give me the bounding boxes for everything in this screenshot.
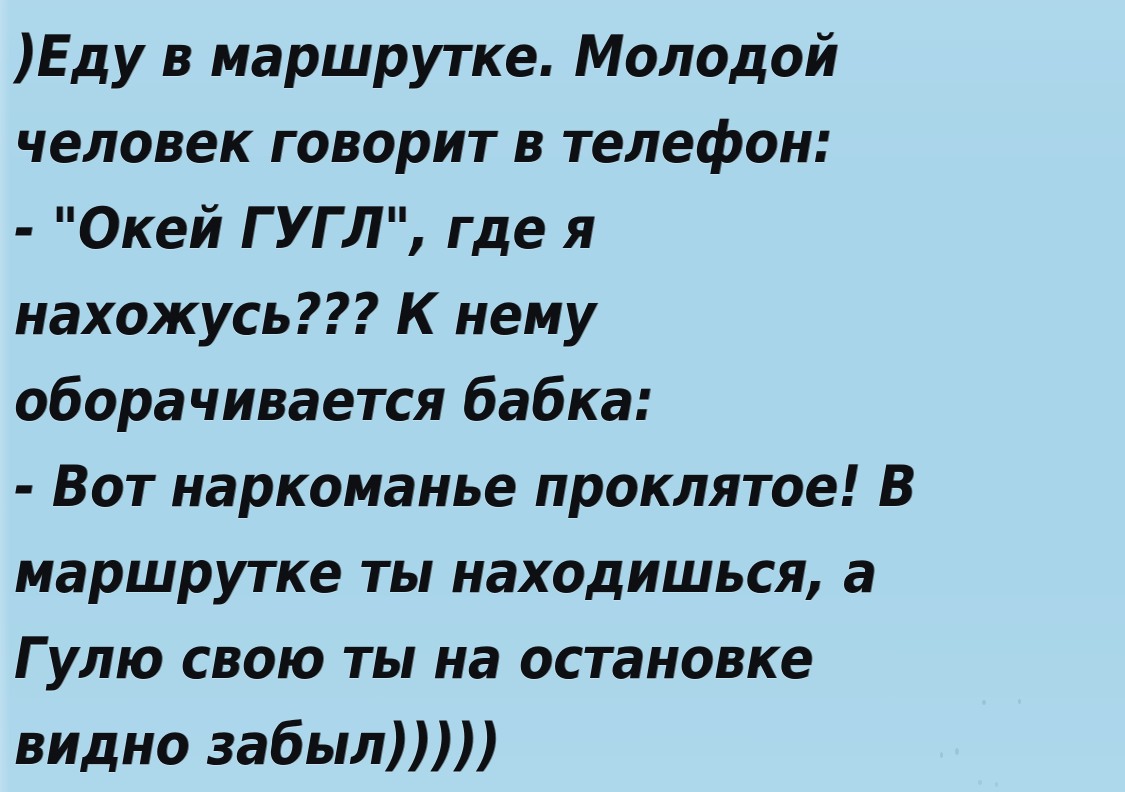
- joke-line-6: - Вот наркоманье проклятое! В: [14, 444, 983, 530]
- joke-line-7: маршрутке ты находишься, а: [14, 530, 983, 616]
- joke-line-9: видно забыл))))): [14, 702, 983, 788]
- joke-line-4: нахожусь??? К нему: [14, 272, 983, 358]
- joke-text-block: )Еду в маршрутке. Молодой человек говори…: [0, 0, 1125, 788]
- joke-line-3: - "Окей ГУГЛ", где я: [14, 186, 983, 272]
- joke-line-5: оборачивается бабка:: [14, 358, 983, 444]
- joke-line-1: )Еду в маршрутке. Молодой: [14, 14, 983, 100]
- joke-line-8: Гулю свою ты на остановке: [14, 616, 983, 702]
- meme-image-canvas: )Еду в маршрутке. Молодой человек говори…: [0, 0, 1125, 792]
- joke-line-2: человек говорит в телефон:: [14, 100, 983, 186]
